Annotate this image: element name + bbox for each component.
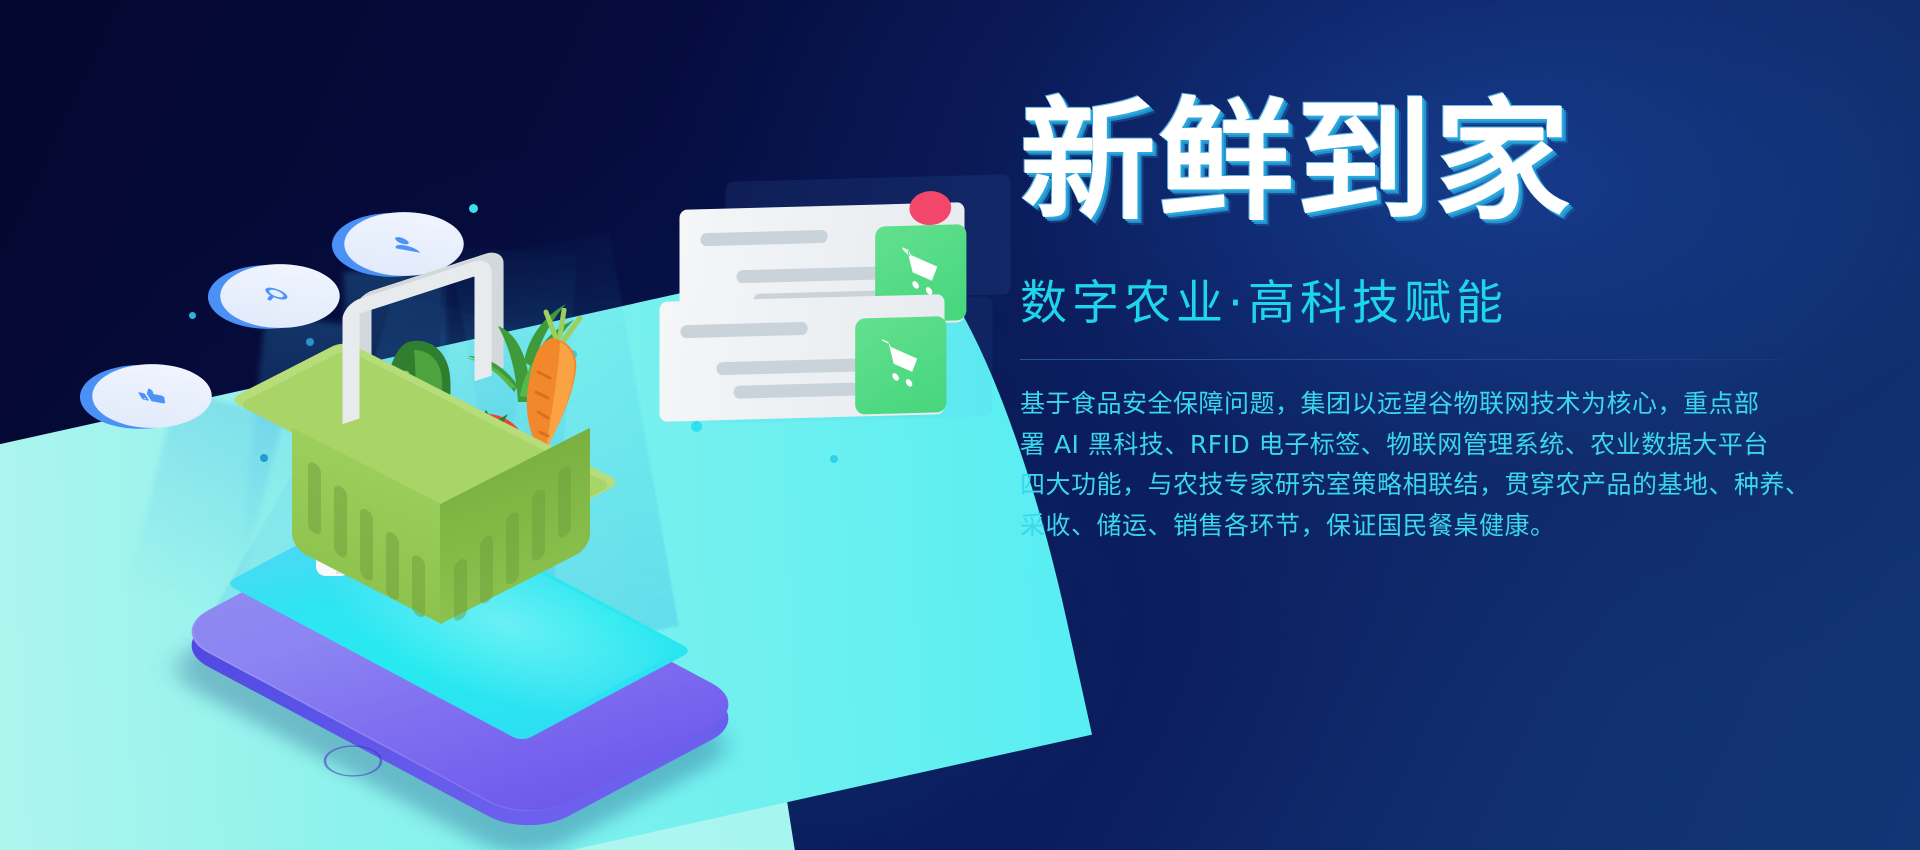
shopping-basket[interactable] <box>268 270 588 600</box>
sparkle-dot <box>830 455 838 463</box>
basket-slat <box>506 510 519 587</box>
user-icon <box>379 231 428 257</box>
basket-slat <box>454 556 467 623</box>
basket-slat <box>532 487 545 564</box>
promo-banner: 新鲜到家 数字农业·高科技赋能 基于食品安全保障问题，集团以远望谷物联网技术为核… <box>0 0 1920 850</box>
add-to-cart-button[interactable] <box>855 316 946 414</box>
sparkle-dot <box>469 204 478 213</box>
shopping-cart-icon <box>879 336 923 395</box>
basket-slat <box>386 530 399 603</box>
basket-slat <box>558 463 571 540</box>
sparkle-dot <box>189 312 196 319</box>
divider <box>1020 359 1780 360</box>
basket-slat <box>360 506 373 583</box>
page-title: 新鲜到家 <box>1020 96 1844 228</box>
basket-slat <box>480 533 493 606</box>
paragraph-line: 基于食品安全保障问题，集团以远望谷物联网技术为核心，重点部 <box>1020 384 1790 425</box>
banner-text-column: 新鲜到家 数字农业·高科技赋能 基于食品安全保障问题，集团以远望谷物联网技术为核… <box>1020 96 1820 546</box>
basket-slat <box>412 553 425 620</box>
basket-slat <box>308 460 321 537</box>
paragraph-line: 四大功能，与农技专家研究室策略相联结，贯穿农产品的基地、种养、 <box>1020 465 1790 506</box>
paragraph-line: 署 AI 黑科技、RFID 电子标签、物联网管理系统、农业数据大平台 <box>1020 425 1790 466</box>
basket-slat <box>334 483 347 560</box>
banner-paragraph: 基于食品安全保障问题，集团以远望谷物联网技术为核心，重点部 署 AI 黑科技、R… <box>1020 384 1790 546</box>
banner-subtitle: 数字农业·高科技赋能 <box>1020 264 1820 333</box>
paragraph-line: 采收、储运、销售各环节，保证国民餐桌健康。 <box>1020 506 1790 547</box>
